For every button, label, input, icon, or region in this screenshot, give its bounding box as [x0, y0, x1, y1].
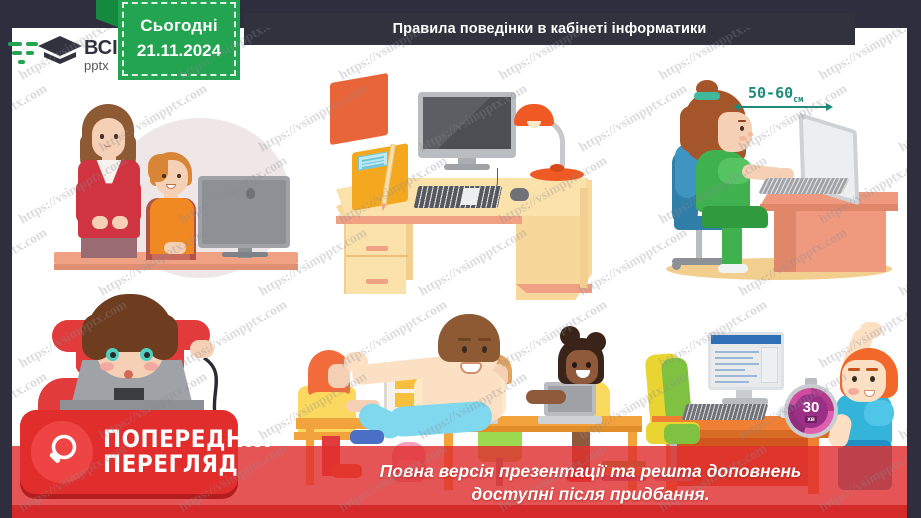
preview-badge-labels: ПОПЕРЕДНІЙ ПЕРЕГЛЯД	[103, 427, 290, 477]
teacher-eye-right	[114, 134, 118, 139]
boy-cheek-right	[144, 362, 158, 371]
boy-cheek-left	[100, 362, 114, 371]
teacher-hand-left	[92, 216, 108, 229]
girl-nose	[748, 132, 753, 137]
teen-eye-left	[462, 346, 467, 353]
preview-badge-line2: ПЕРЕГЛЯД	[103, 452, 272, 477]
stopwatch-icon: 30 хв	[784, 384, 838, 438]
illustration-computer-desk	[330, 78, 620, 294]
kid-cheek	[848, 388, 859, 395]
girl-hair-tie	[694, 92, 720, 100]
drawer-handle-bottom[interactable]	[366, 279, 388, 284]
slide-content-sheet: 50-60см	[12, 28, 907, 518]
student-hands	[164, 242, 186, 254]
kid4-face	[566, 350, 598, 384]
magnifier-icon	[42, 432, 82, 472]
distance-label: 50-60см	[748, 84, 803, 105]
kid-eye-left	[852, 376, 857, 382]
boy-mouth	[124, 370, 133, 379]
brand-name: ВСІМ	[84, 37, 120, 59]
girl-lap	[702, 206, 768, 228]
kid4-arm	[526, 390, 566, 404]
desk-front-edge	[336, 216, 522, 224]
date-badge: Сьогодні 21.11.2024	[118, 0, 240, 80]
chair-seat-inner	[664, 424, 700, 444]
computer-drive-slot	[114, 388, 144, 400]
student-eye-right	[177, 174, 181, 178]
teen-eyebrow-left	[458, 338, 471, 341]
teen-shoe	[350, 430, 384, 444]
kid4-eye-left	[572, 362, 577, 368]
slide-title-bar: Правила поведінки в кабінеті інформатики	[244, 13, 855, 45]
keyboard	[414, 186, 503, 208]
teacher-eye-left	[100, 134, 104, 139]
kid-eyebrow-left	[848, 368, 860, 371]
kid4-eye-right	[586, 362, 591, 368]
drawer-top[interactable]	[346, 224, 408, 257]
teacher-arm-right	[124, 180, 141, 224]
teen-eyebrow-right	[478, 338, 491, 341]
teacher-arm-left	[76, 180, 93, 224]
desk-edge	[54, 264, 298, 270]
magnifier-badge-circle	[31, 421, 93, 483]
kid-eye-right	[870, 376, 875, 382]
purchase-notice-line1: Повна версія презентації та решта доповн…	[292, 460, 889, 483]
speed-lines-icon	[8, 42, 38, 64]
desk-pedestal	[344, 224, 406, 294]
boy-eyebrow-left	[106, 341, 121, 344]
kid-hand-raised	[860, 322, 882, 338]
girl-shoe	[718, 264, 748, 273]
preview-badge-line1: ПОПЕРЕДНІЙ	[103, 427, 272, 452]
student-eye-left	[162, 174, 166, 178]
stopwatch-value: 30	[803, 400, 820, 415]
stopwatch-dial: 30 хв	[794, 394, 828, 428]
app-titlebar	[711, 335, 781, 344]
illustration-teacher-and-student	[40, 84, 290, 289]
teen-hand	[344, 352, 368, 372]
app-sidebar	[761, 347, 778, 383]
girl-face	[718, 112, 752, 152]
teacher-hand-right	[112, 216, 128, 229]
office-chair-pole	[696, 228, 702, 262]
brand-suffix: pptx	[84, 58, 109, 73]
purchase-notice: Повна версія презентації та решта доповн…	[292, 460, 889, 506]
slide-canvas: 50-60см	[0, 0, 921, 518]
purchase-notice-line2: доступні після придбання.	[292, 483, 889, 506]
boy-eye-left	[106, 348, 119, 361]
monitor-base	[222, 252, 268, 257]
kid4-hair-bun-right	[586, 332, 606, 352]
teen-eye-right	[482, 346, 487, 353]
teacher-face	[92, 118, 125, 158]
computer-mouse	[510, 188, 529, 201]
stopwatch-unit: хв	[805, 416, 817, 423]
monitor-logo-icon	[246, 188, 255, 199]
lamp-base-top	[550, 164, 564, 172]
kid-face	[842, 360, 886, 402]
preview-badge[interactable]: ПОПЕРЕДНІЙ ПЕРЕГЛЯД	[20, 410, 238, 494]
kid-sleeve	[864, 400, 894, 426]
lamp-shade	[514, 104, 554, 126]
notebook-back-cover	[330, 73, 388, 145]
brand-logo[interactable]: ВСІМ pptx	[8, 30, 120, 78]
boy-hand-holding-cable	[190, 340, 214, 358]
distance-value: 50-60	[748, 84, 793, 102]
boy-eye-right	[140, 348, 153, 361]
laptop-keyboard	[758, 178, 850, 194]
illustration-correct-sitting-distance: 50-60см	[644, 80, 902, 292]
girl-leg	[722, 222, 742, 270]
girl-eyebrow	[738, 120, 746, 122]
distance-arrow	[740, 106, 826, 108]
desk-leg-right	[580, 188, 588, 288]
keyboard	[682, 404, 769, 420]
monitor-screen	[198, 176, 290, 248]
graduation-cap-icon	[38, 36, 82, 64]
desk-side-panel	[774, 210, 796, 272]
kid4-hair-bun-left	[560, 326, 580, 346]
footer-solid-strip	[12, 505, 907, 518]
teen-mouth	[460, 362, 482, 374]
page-title: Правила поведінки в кабінеті інформатики	[393, 21, 707, 37]
girl-eye	[740, 126, 744, 131]
drawer-handle-top[interactable]	[366, 246, 388, 251]
boy-eyebrow-right	[140, 341, 155, 344]
girl-cheek	[739, 136, 747, 141]
distance-unit: см	[793, 95, 803, 105]
desktop-monitor	[418, 92, 516, 158]
date-badge-dashed-border	[122, 2, 236, 76]
monitor-with-document	[708, 332, 784, 390]
kid-eyebrow-right	[866, 368, 878, 371]
